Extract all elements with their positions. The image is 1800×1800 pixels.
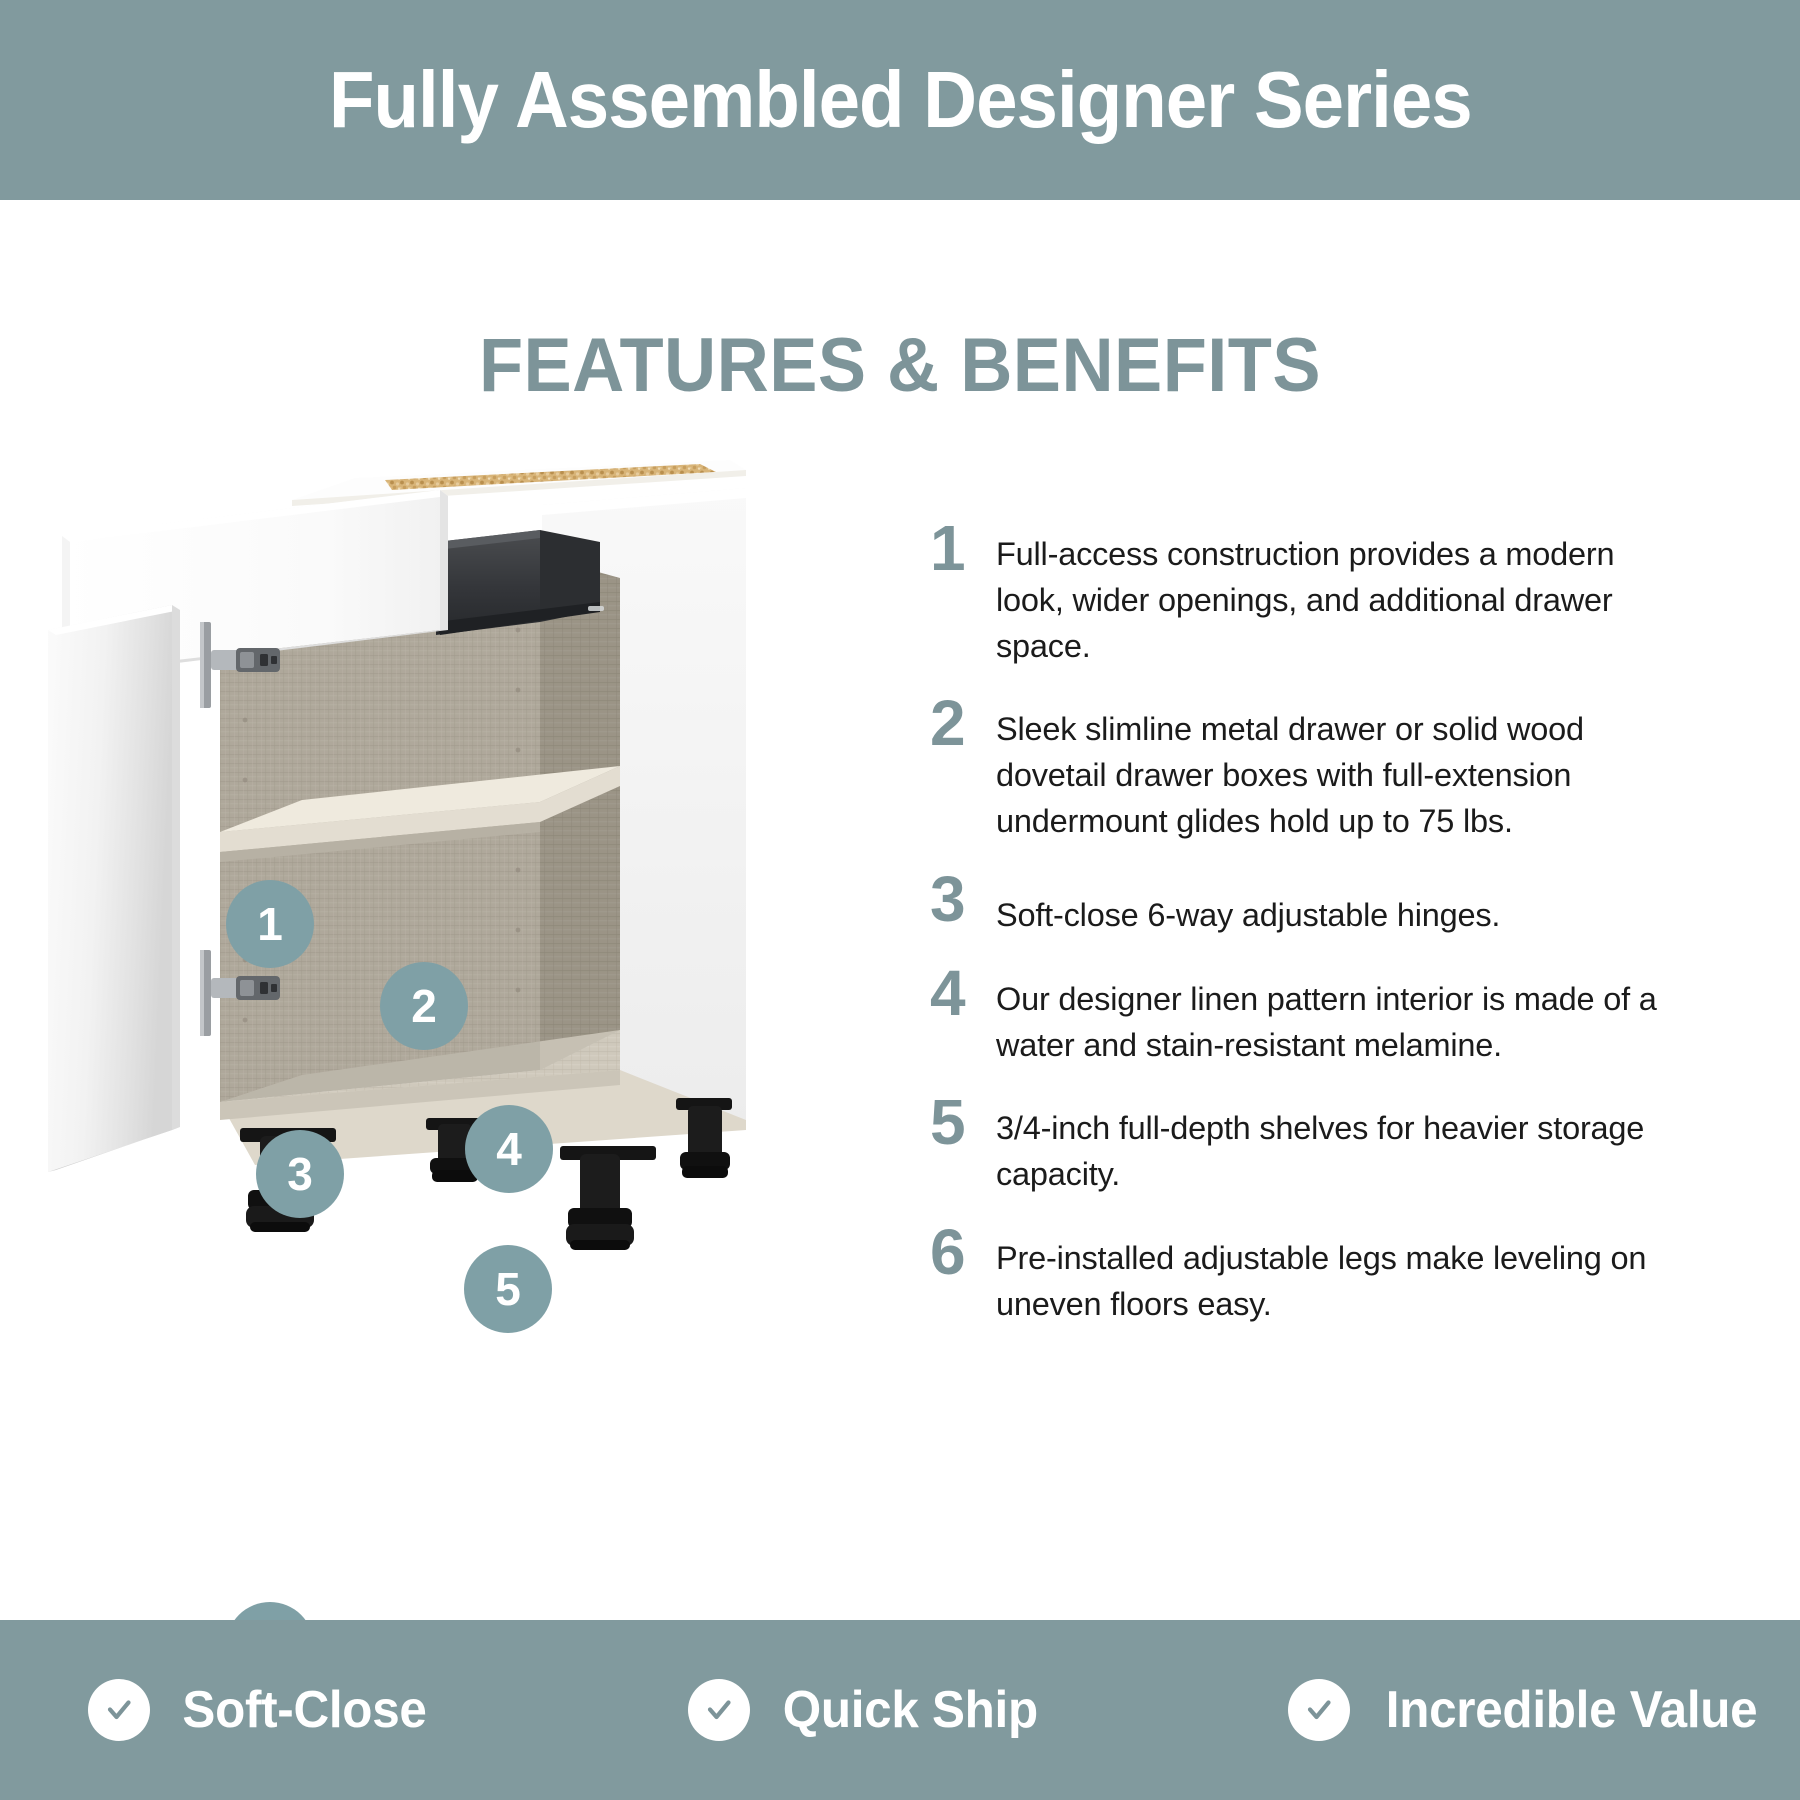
feature-text-3: Soft-close 6-way adjustable hinges. (996, 863, 1690, 939)
feature-item-2: 2 Sleek slimline metal drawer or solid w… (930, 687, 1690, 844)
callout-badge-3: 3 (256, 1130, 344, 1218)
feature-number-1: 1 (930, 512, 996, 580)
feature-text-1: Full-access construction provides a mode… (996, 512, 1690, 669)
feature-item-5: 5 3/4-inch full-depth shelves for heavie… (930, 1086, 1690, 1198)
features-list: 1 Full-access construction provides a mo… (930, 512, 1690, 1346)
base-cabinet-cutaway-image (40, 430, 860, 1330)
footer-badge-soft-close: Soft-Close (0, 1679, 600, 1741)
footer-banner: Soft-Close Quick Ship Incredible Value (0, 1620, 1800, 1800)
callout-badge-5-label: 5 (495, 1266, 521, 1312)
callout-badge-3-label: 3 (287, 1151, 313, 1197)
feature-number-6: 6 (930, 1216, 996, 1284)
callout-badge-1: 1 (226, 880, 314, 968)
footer-label-quick-ship: Quick Ship (783, 1680, 1038, 1740)
footer-label-incredible-value: Incredible Value (1386, 1680, 1758, 1740)
cabinet-door (48, 605, 180, 1172)
feature-number-2: 2 (930, 687, 996, 755)
marketing-infographic-page: Fully Assembled Designer Series FEATURES… (0, 0, 1800, 1800)
callout-badge-2-label: 2 (411, 983, 437, 1029)
callout-badge-1-label: 1 (257, 901, 283, 947)
callout-badge-4-label: 4 (496, 1126, 522, 1172)
check-circle-icon (1288, 1679, 1350, 1741)
check-circle-icon (88, 1679, 150, 1741)
feature-item-3: 3 Soft-close 6-way adjustable hinges. (930, 863, 1690, 939)
header-banner: Fully Assembled Designer Series (0, 0, 1800, 200)
footer-badge-incredible-value: Incredible Value (1200, 1679, 1800, 1741)
feature-text-5: 3/4-inch full-depth shelves for heavier … (996, 1086, 1690, 1198)
callout-badge-5: 5 (464, 1245, 552, 1333)
feature-number-3: 3 (930, 863, 996, 931)
adjustable-leg-back-right (676, 1098, 732, 1178)
feature-number-5: 5 (930, 1086, 996, 1154)
callout-badge-4: 4 (465, 1105, 553, 1193)
footer-badge-quick-ship: Quick Ship (600, 1679, 1200, 1741)
feature-text-6: Pre-installed adjustable legs make level… (996, 1216, 1690, 1328)
feature-item-1: 1 Full-access construction provides a mo… (930, 512, 1690, 669)
adjustable-leg-front-right (560, 1146, 656, 1250)
page-title: Fully Assembled Designer Series (329, 54, 1472, 146)
section-heading: FEATURES & BENEFITS (45, 322, 1755, 409)
feature-item-6: 6 Pre-installed adjustable legs make lev… (930, 1216, 1690, 1328)
product-illustration: 1 2 3 4 5 6 (40, 430, 860, 1330)
callout-badge-2: 2 (380, 962, 468, 1050)
feature-text-2: Sleek slimline metal drawer or solid woo… (996, 687, 1690, 844)
feature-text-4: Our designer linen pattern interior is m… (996, 957, 1690, 1069)
feature-number-4: 4 (930, 957, 996, 1025)
check-circle-icon (688, 1679, 750, 1741)
feature-item-4: 4 Our designer linen pattern interior is… (930, 957, 1690, 1069)
footer-label-soft-close: Soft-Close (182, 1680, 426, 1740)
